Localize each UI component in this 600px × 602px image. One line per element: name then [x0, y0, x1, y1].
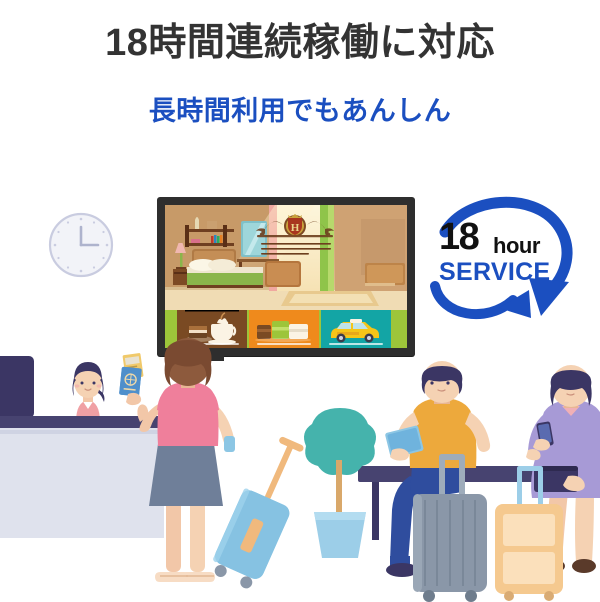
badge-service: SERVICE: [439, 260, 550, 285]
hotel-room-scene: H: [165, 205, 407, 310]
badge-unit: hour: [493, 235, 540, 257]
display-screen: H: [165, 205, 407, 348]
page-title: 18時間連続稼働に対応: [0, 22, 600, 65]
hotel-crest-letter: H: [291, 222, 300, 234]
promo-banner: 18時間連続稼働に対応 長時間利用でもあんしん: [0, 0, 600, 600]
page-subtitle: 長時間利用でもあんしん: [0, 96, 600, 127]
18-hour-service-badge: 18 hour SERVICE: [425, 190, 585, 330]
panel-housekeeping-linens[interactable]: [249, 310, 319, 348]
wall-mounted-display: H: [157, 197, 415, 356]
passport-and-ticket: [114, 352, 154, 408]
badge-number: 18: [439, 218, 478, 256]
wall-clock-icon: [44, 208, 118, 282]
panel-taxi-service[interactable]: [321, 310, 391, 348]
hard-suitcase-gray: [411, 454, 489, 602]
hard-suitcase-tan: [493, 466, 565, 600]
reception-monitor: [0, 356, 34, 418]
